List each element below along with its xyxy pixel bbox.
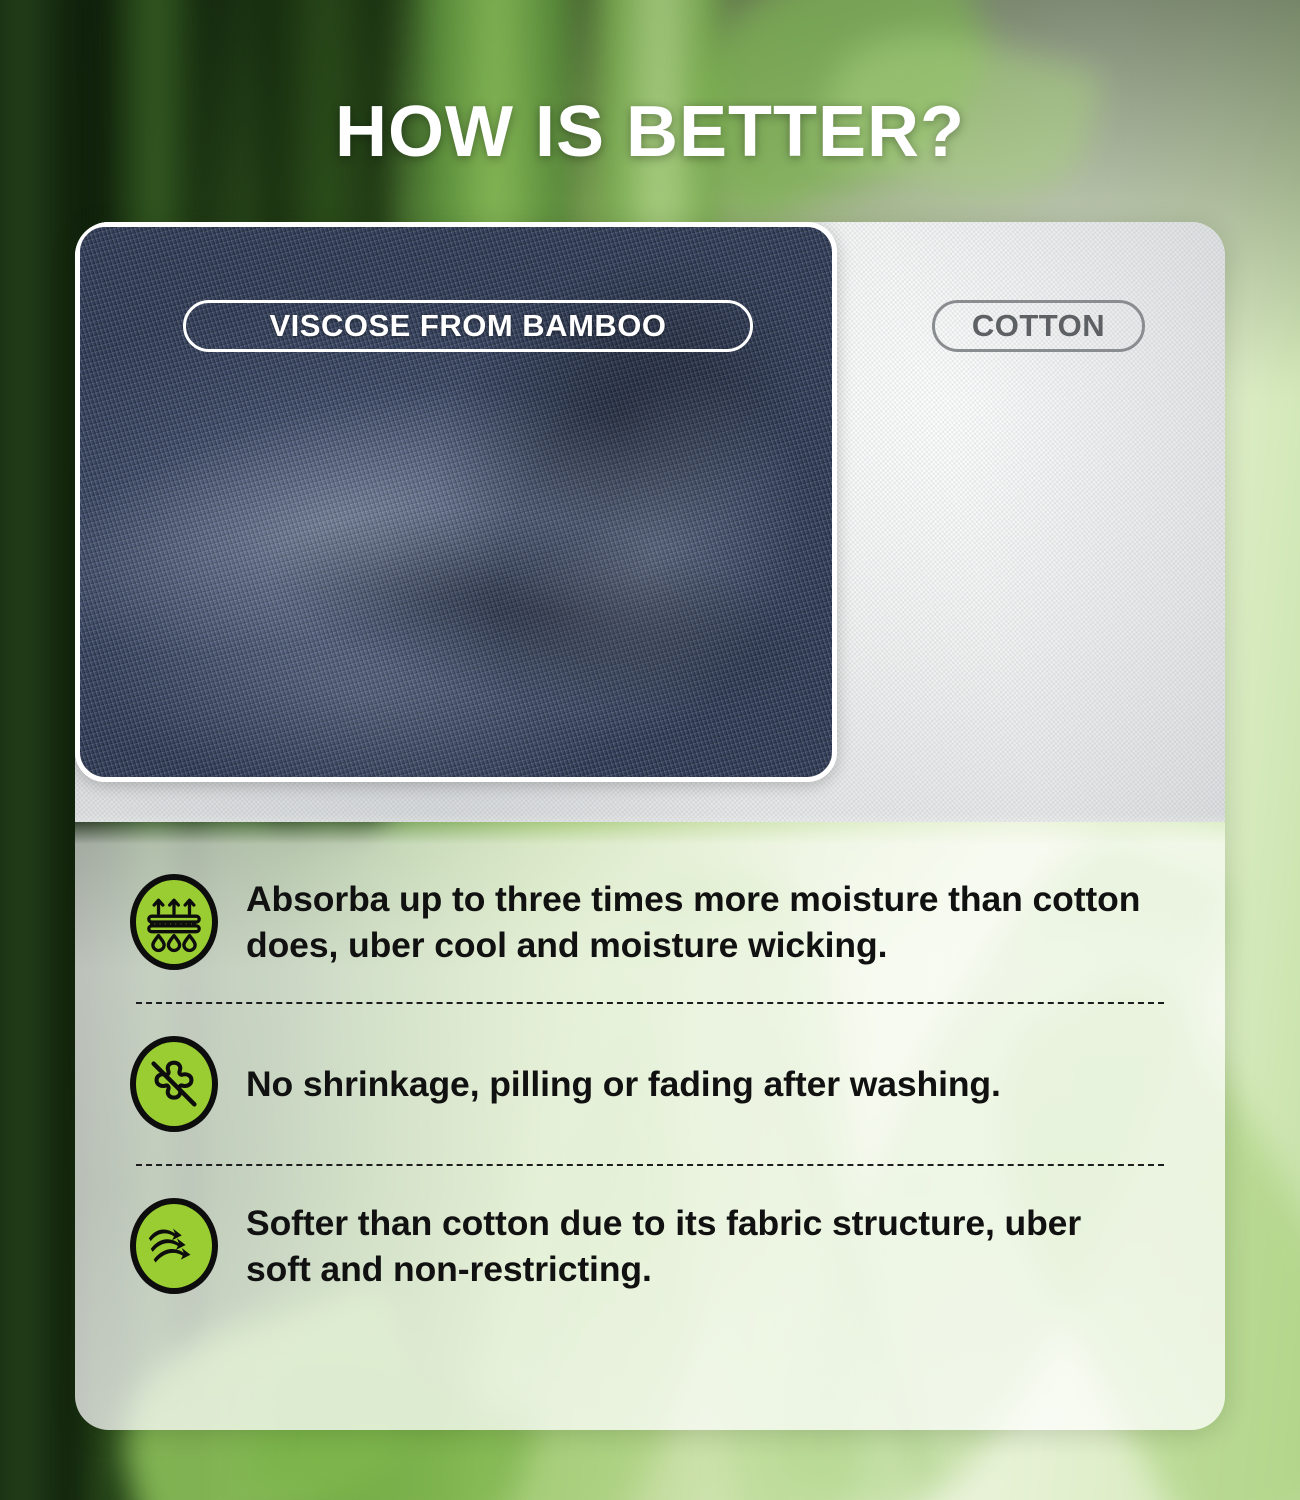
fabric-fold	[423, 302, 837, 782]
feature-item-no-shrinkage: No shrinkage, pilling or fading after wa…	[130, 1004, 1170, 1164]
bamboo-fabric-label: VISCOSE FROM BAMBOO	[183, 300, 753, 352]
feature-text: No shrinkage, pilling or fading after wa…	[246, 1061, 1001, 1107]
fabric-fold	[249, 474, 832, 749]
feature-text: Softer than cotton due to its fabric str…	[246, 1200, 1151, 1292]
feature-item-softness: Softer than cotton due to its fabric str…	[130, 1166, 1170, 1326]
feature-text: Absorba up to three times more moisture …	[246, 876, 1151, 968]
cotton-fabric-label: COTTON	[932, 300, 1145, 352]
feature-list: Absorba up to three times more moisture …	[75, 842, 1225, 1326]
comparison-card: VISCOSE FROM BAMBOO COTTON	[75, 222, 1225, 1430]
bamboo-stalk	[0, 0, 80, 1500]
fabric-fold	[362, 222, 837, 659]
page-title: HOW IS BETTER?	[0, 96, 1300, 168]
moisture-wicking-icon	[130, 874, 218, 970]
feature-item-moisture: Absorba up to three times more moisture …	[130, 842, 1170, 1002]
fabric-fold	[75, 335, 659, 708]
no-pilling-icon	[130, 1036, 218, 1132]
fabric-fold	[90, 560, 630, 782]
fabric-comparison-area: VISCOSE FROM BAMBOO COTTON	[75, 222, 1225, 822]
soft-flow-icon	[130, 1198, 218, 1294]
